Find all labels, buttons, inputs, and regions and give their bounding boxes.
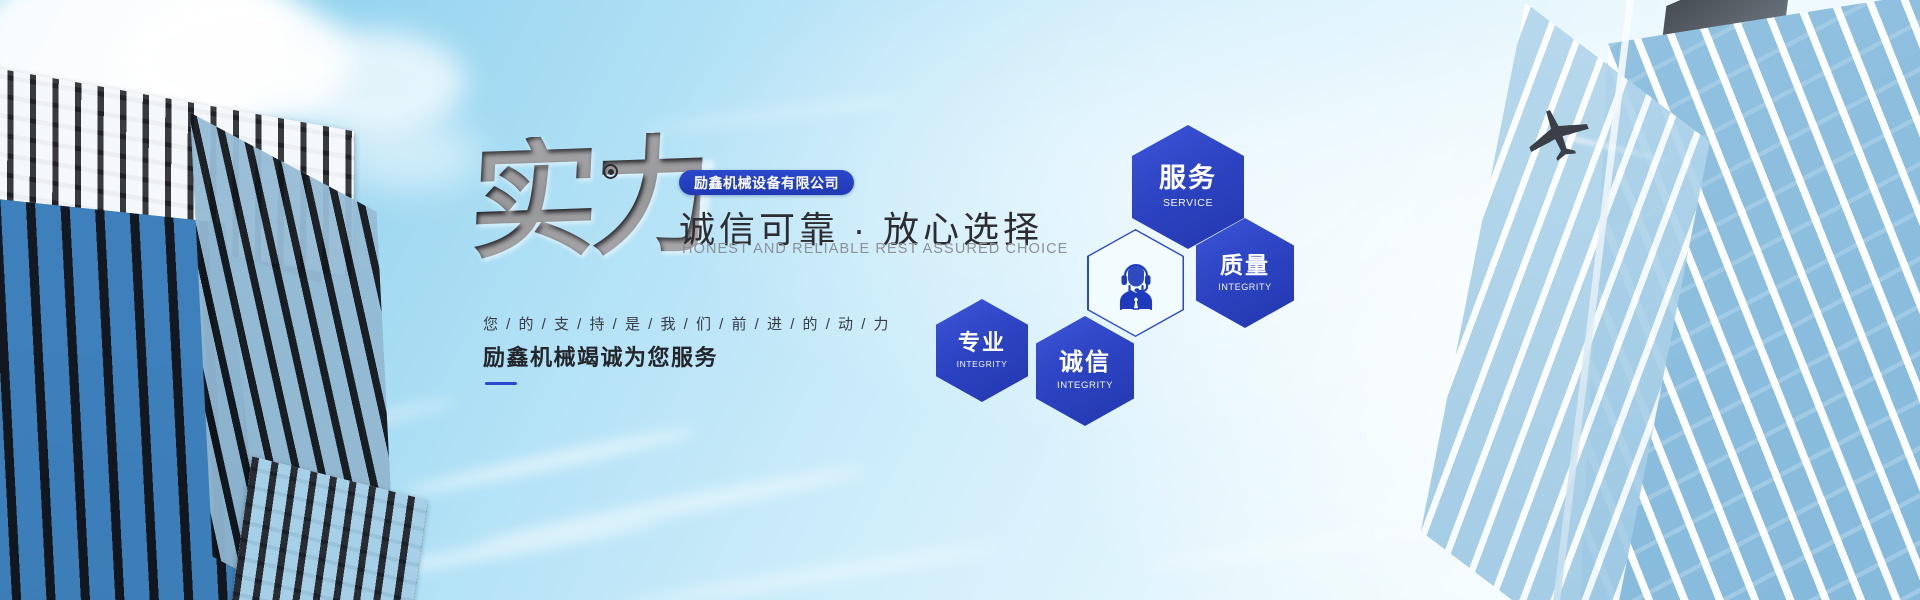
hex-label-cn: 专业	[958, 332, 1006, 354]
hexagon-cluster: 服务 SERVICE 质量 INTEGRITY 专业 INTEGRITY 诚信 …	[0, 0, 1920, 600]
hex-badge-professional[interactable]: 专业 INTEGRITY	[936, 299, 1028, 402]
hex-label-en: INTEGRITY	[1057, 380, 1113, 391]
hex-label-en: INTEGRITY	[957, 359, 1008, 369]
hex-badge-agent[interactable]	[1087, 229, 1184, 337]
customer-service-agent-icon	[1111, 256, 1161, 310]
hex-inner	[1089, 231, 1183, 336]
hex-label-en: INTEGRITY	[1218, 282, 1271, 292]
hex-label-cn: 服务	[1159, 165, 1217, 192]
hex-badge-integrity[interactable]: 诚信 INTEGRITY	[1036, 316, 1134, 426]
hex-label-cn: 诚信	[1059, 351, 1111, 375]
hex-label-cn: 质量	[1220, 254, 1270, 277]
hero-banner: 实力 励鑫机械设备有限公司 诚信可靠 · 放心选择 HONEST AND REL…	[0, 0, 1920, 600]
hex-label-en: SERVICE	[1163, 197, 1213, 209]
